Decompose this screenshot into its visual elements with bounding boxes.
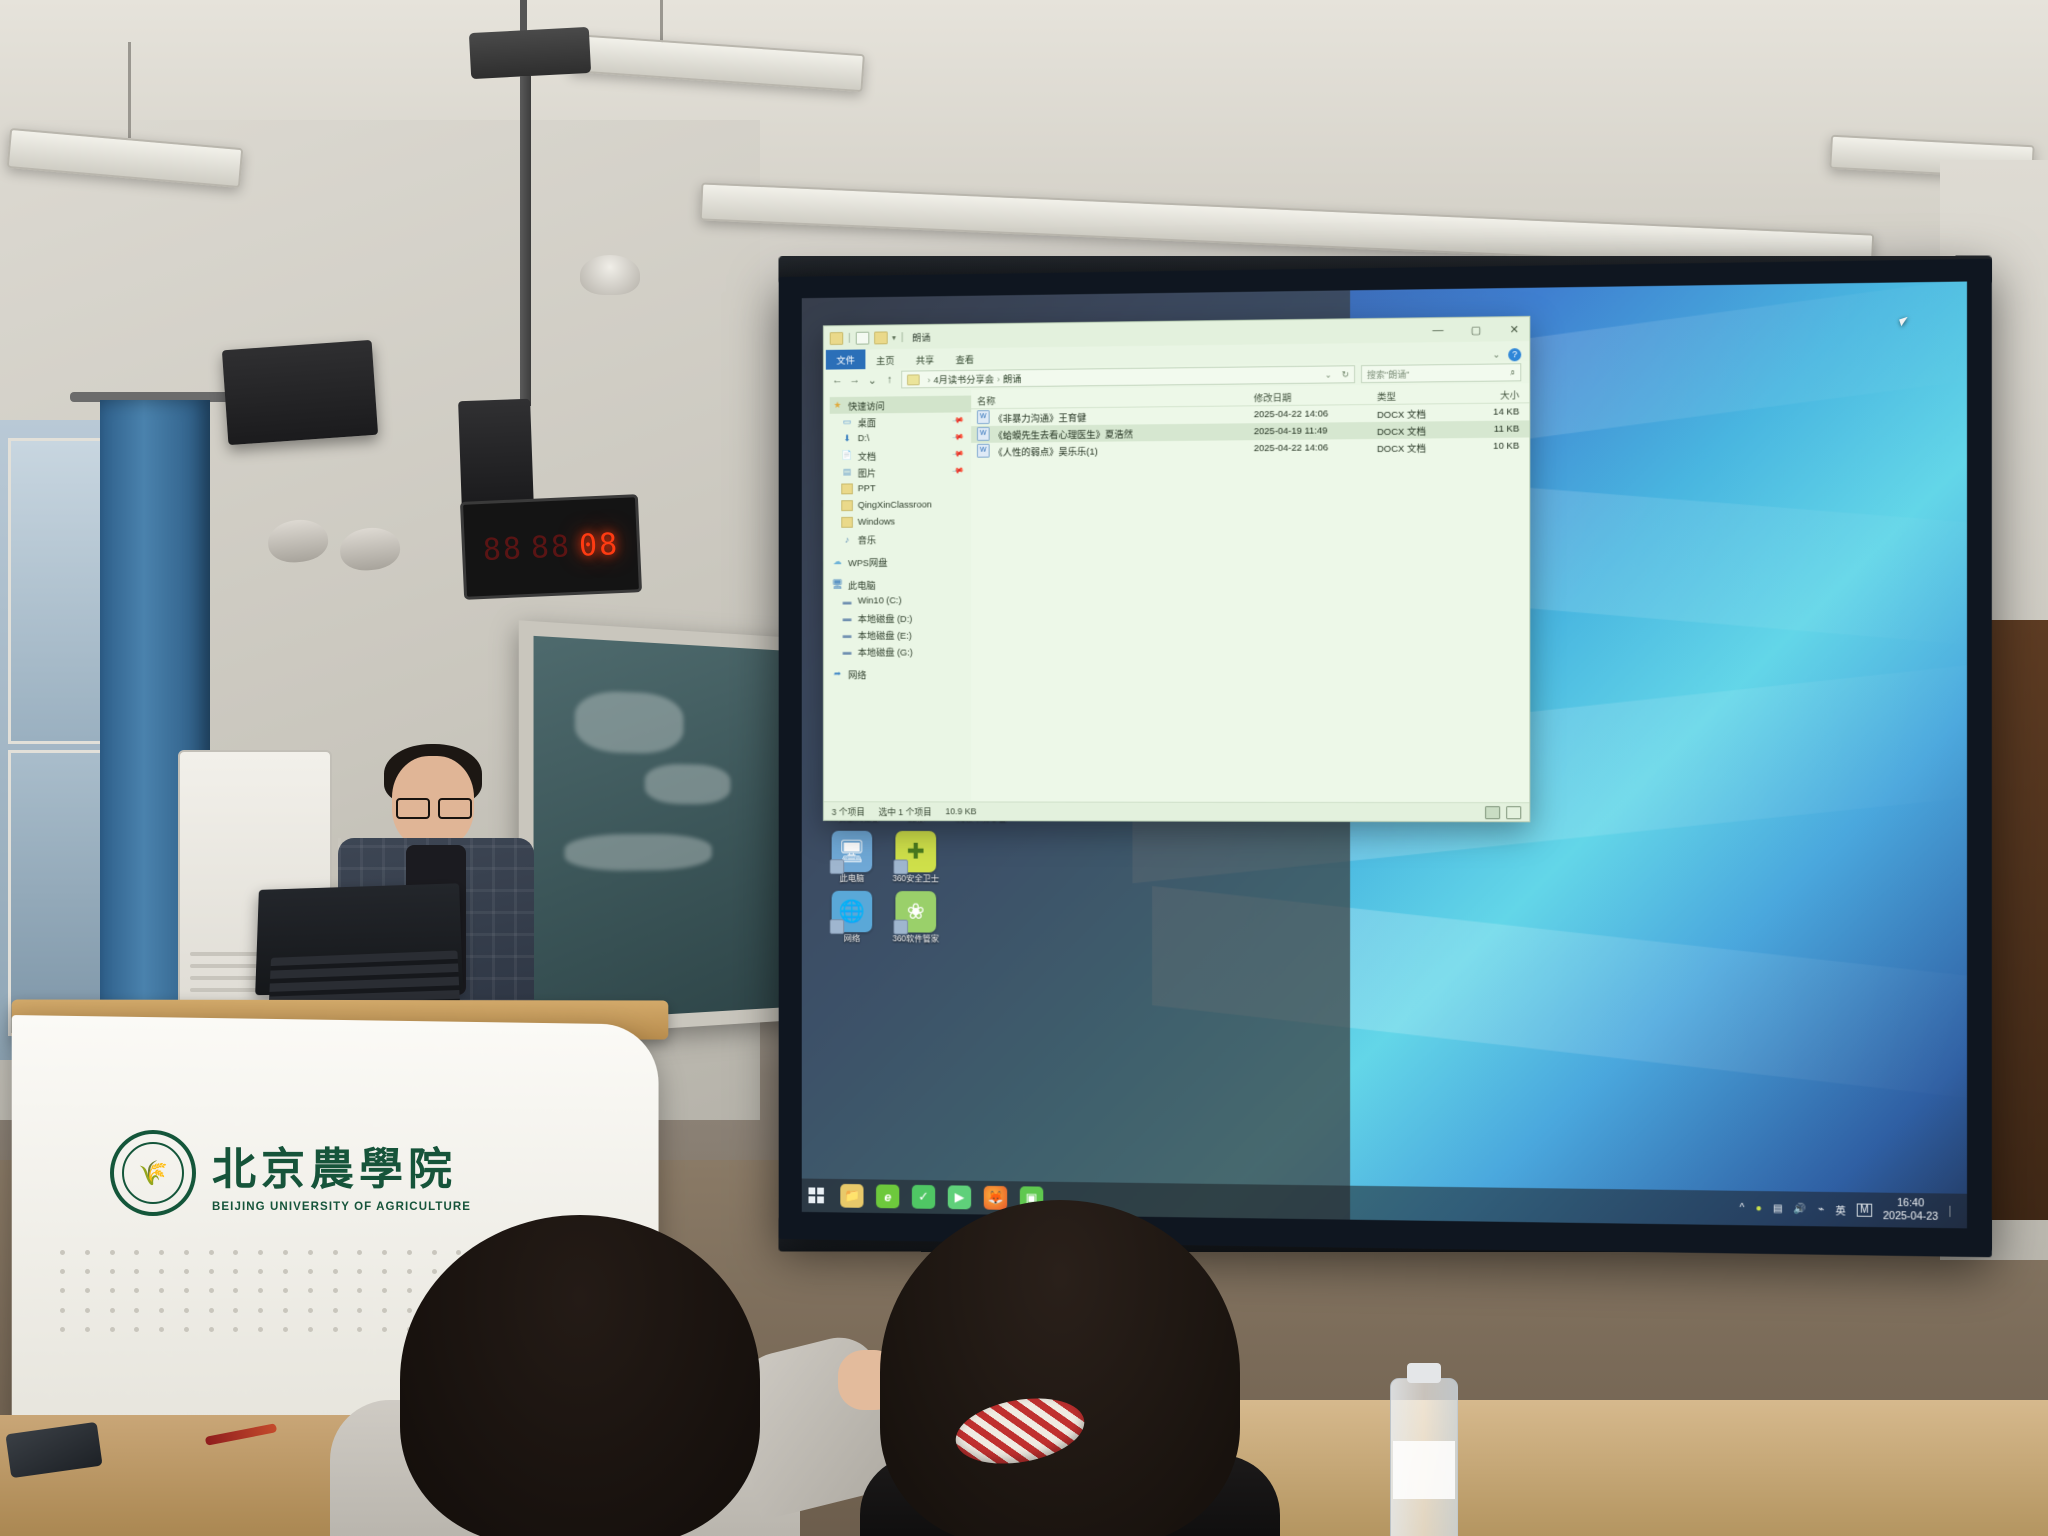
projector <box>469 27 591 79</box>
music-icon: ♪ <box>841 534 853 545</box>
minimize-button[interactable]: — <box>1427 324 1449 336</box>
up-button[interactable]: ↑ <box>884 374 896 386</box>
ime-language-icon[interactable]: 英 <box>1835 1202 1845 1217</box>
sidebar-item-wps-cloud[interactable]: ☁WPS网盘 <box>830 553 971 571</box>
sidebar-item-quick-access[interactable]: ★ 快速访问 <box>830 396 971 414</box>
pin-icon[interactable]: 📌 <box>952 414 965 427</box>
lamp-rod-left <box>128 42 131 138</box>
led-wall-clock: 88 88 08 <box>460 494 642 600</box>
sidebar-item-label: Win10 (C:) <box>858 595 902 606</box>
system-drive-icon: ▬ <box>841 596 853 607</box>
docx-file-icon <box>977 410 990 424</box>
drive-icon: ▬ <box>841 612 853 623</box>
sidebar-item-drive-c[interactable]: ▬Win10 (C:) <box>830 592 971 609</box>
led-digit-hour: 88 <box>482 531 524 568</box>
desktop-icon-spacer <box>951 892 1009 945</box>
status-item-count: 3 个项目 <box>832 805 865 818</box>
sidebar-item-windows[interactable]: Windows <box>830 513 971 531</box>
document-icon: 📄 <box>841 450 853 461</box>
search-placeholder: 搜索"朗诵" <box>1367 367 1409 381</box>
desktop-icon-this-pc[interactable]: 🖥此电脑 <box>823 830 881 883</box>
file-type: DOCX 文档 <box>1371 440 1455 455</box>
folder-icon <box>841 483 853 494</box>
led-digit-minute: 88 <box>530 529 572 566</box>
led-digit-second: 08 <box>578 527 620 564</box>
file-name: 《人性的弱点》吴乐乐(1) <box>994 447 1098 459</box>
properties-icon[interactable] <box>855 331 869 344</box>
desktop-icon-row: 🌐网络 ❀360软件管家 <box>823 891 1017 945</box>
taskbar-media-player-icon[interactable]: ▶ <box>948 1185 971 1209</box>
university-seal-icon: 🌾 <box>110 1130 196 1216</box>
sidebar-item-label: QingXinClassroon <box>858 500 932 511</box>
status-selection-size: 10.9 KB <box>945 806 976 816</box>
university-name-en: BEIJING UNIVERSITY OF AGRICULTURE <box>212 1201 471 1213</box>
file-size: 10 KB <box>1455 440 1529 452</box>
sidebar-item-qingxinclassroon[interactable]: QingXinClassroon <box>830 496 971 514</box>
breadcrumb-dropdown-icon[interactable]: ⌄ <box>1325 370 1332 379</box>
folder-icon <box>841 500 853 511</box>
column-header-size[interactable]: 大小 <box>1455 387 1529 402</box>
sidebar-item-music[interactable]: ♪音乐 <box>830 530 971 548</box>
display-icon[interactable]: ▤ <box>1773 1203 1783 1214</box>
file-size: 14 KB <box>1455 406 1529 418</box>
help-icon[interactable]: ? <box>1508 348 1521 361</box>
taskbar-firefox-icon[interactable]: 🦊 <box>984 1186 1007 1210</box>
bottle-cap <box>1407 1363 1441 1383</box>
projector-pole <box>520 76 531 406</box>
sidebar-item-ppt[interactable]: PPT <box>830 479 971 497</box>
file-size: 11 KB <box>1455 423 1529 435</box>
tab-home[interactable]: 主页 <box>865 351 905 369</box>
sidebar-item-label: 网络 <box>848 667 866 681</box>
360-software-icon: ❀ <box>895 891 936 933</box>
clock-time: 16:40 <box>1883 1197 1938 1211</box>
sidebar-item-drive-d[interactable]: ▬本地磁盘 (D:) <box>830 609 971 626</box>
details-view-icon[interactable] <box>1485 806 1500 819</box>
docx-file-icon <box>977 444 990 458</box>
file-explorer-window[interactable]: | ▾ | 朗诵 — ▢ ✕ 文件 主页 共享 查看 <box>823 316 1530 822</box>
tab-file[interactable]: 文件 <box>826 349 866 369</box>
lamp-rod-mid <box>660 0 663 44</box>
cloud-icon: ☁ <box>832 556 844 567</box>
recent-locations-icon[interactable]: ⌄ <box>866 373 878 386</box>
university-logo: 🌾 北京農學院 BEIJING UNIVERSITY OF AGRICULTUR… <box>110 1118 530 1228</box>
wheat-icon: 🌾 <box>138 1159 168 1188</box>
large-icons-view-icon[interactable] <box>1506 806 1521 819</box>
breadcrumb[interactable]: ›4月读书分享会›朗诵 ⌄ ↻ <box>901 365 1355 388</box>
sidebar-item-label: 文档 <box>858 448 876 462</box>
sidebar-item-label: WPS网盘 <box>848 555 887 569</box>
navigation-pane[interactable]: ★ 快速访问 ▭桌面📌 ⬇D:\📌 📄文档📌 ▤图片📌 PPT QingXinC… <box>824 390 971 802</box>
blackboard <box>519 620 811 1037</box>
back-button[interactable]: ← <box>832 374 844 386</box>
clock-date: 2025-04-23 <box>1883 1210 1938 1224</box>
explorer-body: ★ 快速访问 ▭桌面📌 ⬇D:\📌 📄文档📌 ▤图片📌 PPT QingXinC… <box>824 383 1529 802</box>
desktop-icon-label: 网络 <box>823 934 881 944</box>
taskbar-clock[interactable]: 16:40 2025-04-23 <box>1883 1197 1938 1224</box>
computer-icon: 🖥 <box>832 579 844 590</box>
network-icon: ➦ <box>832 668 844 679</box>
classroom-door <box>1985 620 2048 1220</box>
sidebar-item-desktop[interactable]: ▭桌面📌 <box>830 412 971 430</box>
status-selection: 选中 1 个项目 <box>878 805 931 818</box>
refresh-icon[interactable]: ↻ <box>1342 369 1350 380</box>
projected-desktop: 👤Administr... 🗑回收站 eMicrosoft Edge ▶爱奇艺万… <box>802 282 1967 1229</box>
pin-icon[interactable]: 📌 <box>952 448 965 461</box>
breadcrumb-item-parent[interactable]: 4月读书分享会 <box>933 375 994 387</box>
sidebar-item-label: 本地磁盘 (E:) <box>858 627 912 641</box>
window-controls[interactable]: — ▢ ✕ <box>1427 317 1525 342</box>
system-tray[interactable]: ^ ● ▤ 🔊 ⌁ 英 M 16:40 2025-04-23 <box>1740 1191 1959 1228</box>
search-icon[interactable]: ⌕ <box>1510 367 1515 378</box>
docx-file-icon <box>977 427 990 441</box>
new-folder-icon[interactable] <box>874 331 888 344</box>
ribbon-collapse-icon[interactable]: ⌄ <box>1493 349 1501 360</box>
presenter-glasses <box>396 798 470 815</box>
projection-screen-frame: 👤Administr... 🗑回收站 eMicrosoft Edge ▶爱奇艺万… <box>779 259 1992 1258</box>
taskbar-360-browser-icon[interactable]: e <box>876 1184 899 1208</box>
breadcrumb-item-current[interactable]: 朗诵 <box>1003 374 1022 385</box>
student-one-hair <box>400 1215 760 1536</box>
sidebar-item-label: D:\ <box>858 433 870 444</box>
status-bar: 3 个项目 选中 1 个项目 10.9 KB <box>824 801 1529 821</box>
sidebar-item-d-drive[interactable]: ⬇D:\📌 <box>830 429 971 447</box>
file-type: DOCX 文档 <box>1371 423 1455 438</box>
sidebar-item-label: 图片 <box>858 465 876 479</box>
chevron-down-icon[interactable]: ▾ <box>892 333 896 342</box>
file-name: 《非暴力沟通》王育健 <box>994 413 1087 425</box>
sidebar-item-label: 桌面 <box>858 415 876 429</box>
bottle-label <box>1393 1441 1455 1499</box>
sidebar-item-pictures[interactable]: ▤图片📌 <box>830 463 971 481</box>
wireless-receiver <box>458 399 534 511</box>
sidebar-item-label: 本地磁盘 (D:) <box>858 611 913 625</box>
maximize-button[interactable]: ▢ <box>1465 323 1487 336</box>
file-date: 2025-04-22 14:06 <box>1248 442 1371 454</box>
student-two-hair <box>880 1200 1240 1536</box>
pin-icon[interactable]: 📌 <box>952 465 965 478</box>
show-hidden-icons-icon[interactable]: ^ <box>1740 1202 1745 1213</box>
taskbar-security-icon[interactable]: ✓ <box>912 1185 935 1209</box>
sidebar-item-network[interactable]: ➦网络 <box>830 665 971 682</box>
computer-icon: 🖥 <box>832 830 873 871</box>
desktop-icon-label: 360安全卫士 <box>887 874 945 884</box>
wall-speaker <box>222 340 378 445</box>
tab-share[interactable]: 共享 <box>905 350 945 368</box>
download-icon: ⬇ <box>841 433 853 444</box>
close-button[interactable]: ✕ <box>1503 322 1525 335</box>
sidebar-item-this-pc[interactable]: 🖥此电脑 <box>830 575 971 593</box>
sidebar-item-label: 本地磁盘 (G:) <box>858 644 913 658</box>
sidebar-item-label: PPT <box>858 483 876 494</box>
show-desktop-button[interactable] <box>1950 1205 1959 1216</box>
classroom-photo-scene: 88 88 08 👤Administr... <box>0 0 2048 1536</box>
desktop-icon-360-software-manager[interactable]: ❀360软件管家 <box>887 891 945 944</box>
tab-view[interactable]: 查看 <box>945 350 985 368</box>
sidebar-item-label: 快速访问 <box>848 398 885 412</box>
file-name: 《蛤蟆先生去看心理医生》夏浩然 <box>994 429 1133 441</box>
ime-mode-icon[interactable]: M <box>1857 1203 1872 1216</box>
start-button[interactable] <box>802 1179 831 1213</box>
taskbar-file-explorer-icon[interactable]: 📁 <box>840 1184 863 1208</box>
column-header-name[interactable]: 名称 <box>971 390 1248 407</box>
desktop-icon-label: 360软件管家 <box>887 935 945 945</box>
university-name-cn: 北京農學院 <box>212 1133 471 1197</box>
pin-icon[interactable]: 📌 <box>952 431 965 444</box>
network-icon: 🌐 <box>832 891 873 933</box>
drive-icon: ▬ <box>841 629 853 640</box>
update-icon[interactable]: ● <box>1756 1203 1762 1214</box>
sidebar-item-drive-e[interactable]: ▬本地磁盘 (E:) <box>830 626 971 643</box>
picture-icon: ▤ <box>841 467 853 478</box>
file-date: 2025-04-22 14:06 <box>1248 408 1371 420</box>
folder-icon[interactable] <box>830 332 844 345</box>
forward-button[interactable]: → <box>849 374 861 386</box>
desktop-icon-label: 此电脑 <box>823 874 881 884</box>
water-bottle <box>1390 1378 1458 1536</box>
dome-camera-ceiling <box>580 255 640 295</box>
360-safe-icon: ✚ <box>895 831 936 873</box>
folder-icon <box>907 374 920 385</box>
desktop-icon-360-safe[interactable]: ✚360安全卫士 <box>887 831 945 884</box>
volume-icon[interactable]: 🔊 <box>1794 1203 1807 1214</box>
search-input[interactable]: 搜索"朗诵" ⌕ <box>1361 363 1521 383</box>
sidebar-item-drive-g[interactable]: ▬本地磁盘 (G:) <box>830 642 971 659</box>
explorer-window-title: 朗诵 <box>912 330 930 344</box>
desktop-icon-spacer <box>951 831 1009 884</box>
sidebar-item-label: 此电脑 <box>848 577 876 591</box>
sidebar-item-documents[interactable]: 📄文档📌 <box>830 446 971 464</box>
view-toggle-group[interactable] <box>1485 806 1521 819</box>
desktop-icon-row: 🖥此电脑 ✚360安全卫士 <box>823 830 1017 884</box>
folder-icon <box>841 517 853 528</box>
sidebar-item-label: Windows <box>858 517 895 528</box>
file-date: 2025-04-19 11:49 <box>1248 425 1371 437</box>
file-list-pane[interactable]: 名称 修改日期 类型 大小 《非暴力沟通》王育健 2025-04-22 14:0… <box>971 383 1529 802</box>
drive-icon: ▬ <box>841 646 853 657</box>
desktop-icon-network[interactable]: 🌐网络 <box>823 891 881 944</box>
column-header-date[interactable]: 修改日期 <box>1248 389 1371 404</box>
star-icon: ★ <box>832 400 844 411</box>
sidebar-item-label: 音乐 <box>858 532 876 546</box>
desktop-icon: ▭ <box>841 417 853 428</box>
file-type: DOCX 文档 <box>1371 406 1455 421</box>
network-tray-icon[interactable]: ⌁ <box>1818 1203 1824 1214</box>
student-desk-right <box>1230 1400 2048 1536</box>
column-header-type[interactable]: 类型 <box>1371 388 1455 403</box>
